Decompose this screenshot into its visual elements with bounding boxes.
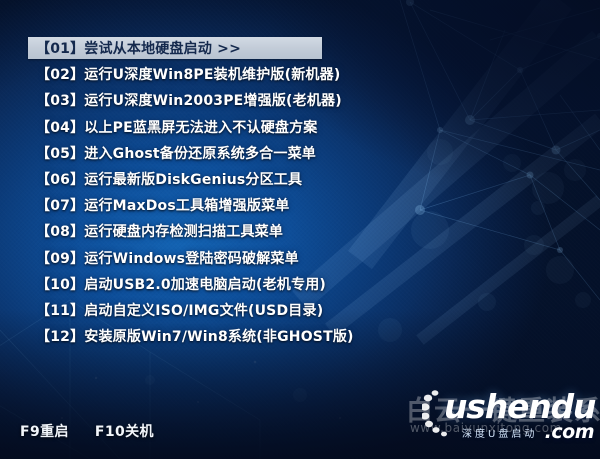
- boot-menu-item-label: 【12】安装原版Win7/Win8系统(非GHOST版): [36, 326, 354, 346]
- boot-menu-item-08[interactable]: 【08】运行硬盘内存检测扫描工具菜单: [28, 220, 283, 242]
- brand-logo: ushendu 深度U盘启动 .com: [422, 385, 598, 447]
- boot-menu-item-label: 【11】启动自定义ISO/IMG文件(USD目录): [36, 300, 323, 320]
- boot-menu-item-09[interactable]: 【09】运行Windows登陆密码破解菜单: [28, 247, 299, 269]
- boot-menu-item-label: 【02】运行U深度Win8PE装机维护版(新机器): [36, 64, 340, 84]
- boot-menu-item-12[interactable]: 【12】安装原版Win7/Win8系统(非GHOST版): [28, 325, 354, 347]
- boot-menu-item-03[interactable]: 【03】运行U深度Win2003PE增强版(老机器): [28, 89, 342, 111]
- boot-menu-item-label: 【08】运行硬盘内存检测扫描工具菜单: [36, 221, 283, 241]
- logo-wordmark: ushendu: [444, 389, 595, 425]
- function-key-2[interactable]: F10关机: [95, 421, 154, 441]
- boot-menu-item-label: 【01】尝试从本地硬盘启动 >>: [36, 38, 241, 58]
- boot-menu-item-07[interactable]: 【07】运行MaxDos工具箱增强版菜单: [28, 194, 289, 216]
- boot-menu-item-label: 【10】启动USB2.0加速电脑启动(老机专用): [36, 274, 326, 294]
- function-key-bar: F9重启F10关机: [20, 421, 154, 441]
- boot-menu-item-01[interactable]: 【01】尝试从本地硬盘启动 >>: [28, 37, 322, 59]
- boot-menu-item-label: 【07】运行MaxDos工具箱增强版菜单: [36, 195, 289, 215]
- boot-menu-screen: 【01】尝试从本地硬盘启动 >>【02】运行U深度Win8PE装机维护版(新机器…: [0, 0, 600, 459]
- boot-menu-item-05[interactable]: 【05】进入Ghost备份还原系统多合一菜单: [28, 142, 316, 164]
- boot-menu-item-label: 【05】进入Ghost备份还原系统多合一菜单: [36, 143, 316, 163]
- boot-menu-item-label: 【06】运行最新版DiskGenius分区工具: [36, 169, 302, 189]
- boot-menu-item-10[interactable]: 【10】启动USB2.0加速电脑启动(老机专用): [28, 273, 326, 295]
- boot-menu-item-label: 【03】运行U深度Win2003PE增强版(老机器): [36, 90, 342, 110]
- logo-domain-suffix: .com: [545, 421, 594, 443]
- boot-menu-item-06[interactable]: 【06】运行最新版DiskGenius分区工具: [28, 168, 302, 190]
- boot-menu-item-02[interactable]: 【02】运行U深度Win8PE装机维护版(新机器): [28, 63, 340, 85]
- logo-subtitle: 深度U盘启动: [462, 425, 537, 440]
- boot-menu-item-11[interactable]: 【11】启动自定义ISO/IMG文件(USD目录): [28, 299, 323, 321]
- boot-menu-item-label: 【09】运行Windows登陆密码破解菜单: [36, 248, 299, 268]
- function-key-1[interactable]: F9重启: [20, 421, 69, 441]
- boot-menu-item-04[interactable]: 【04】以上PE蓝黑屏无法进入不认硬盘方案: [28, 116, 318, 138]
- boot-menu-item-label: 【04】以上PE蓝黑屏无法进入不认硬盘方案: [36, 117, 318, 137]
